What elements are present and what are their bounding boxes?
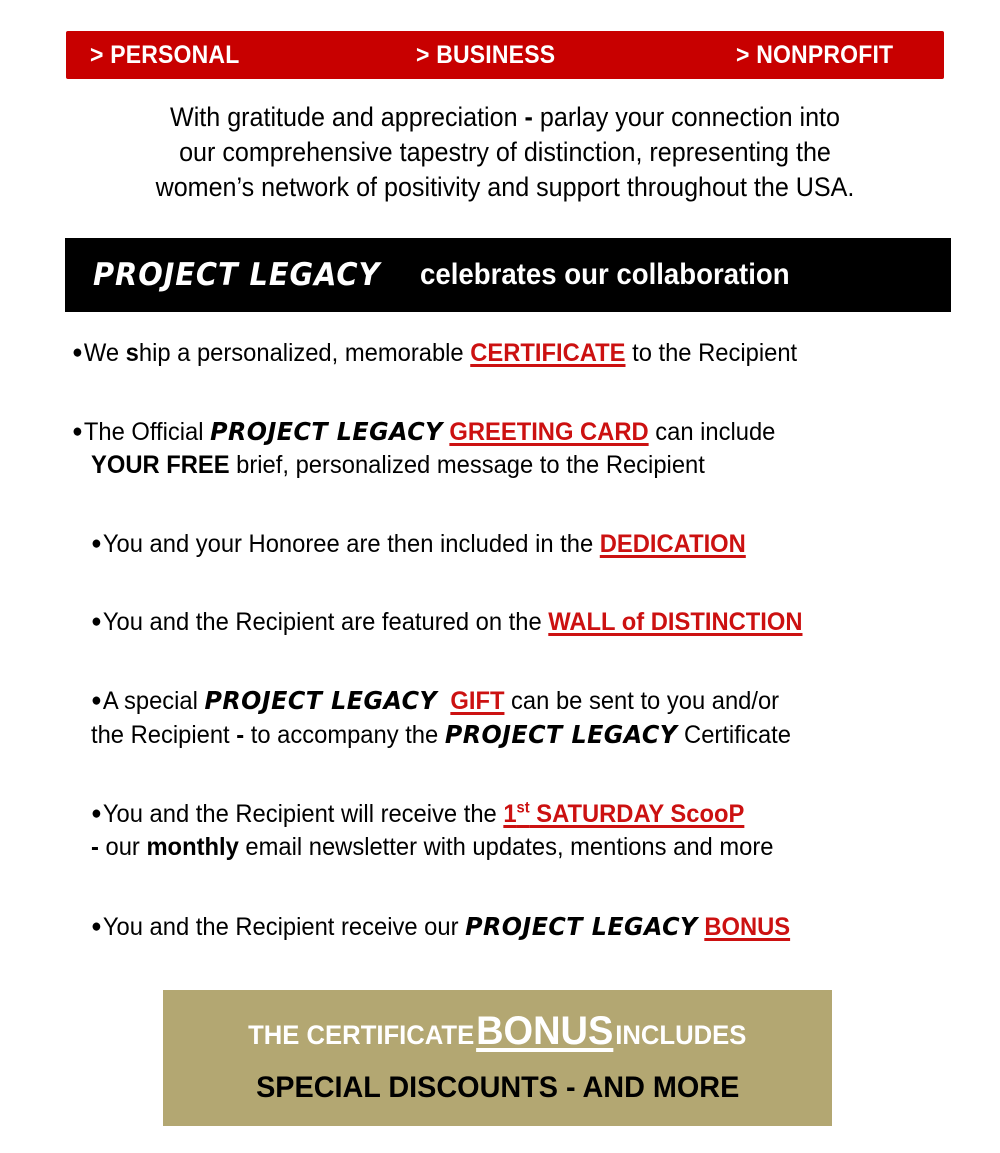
bullet-text: You and the Recipient receive our [103, 913, 465, 941]
intro-line-1: With gratitude and appreciation - parlay… [91, 100, 919, 135]
bullet-line: ●The Official PROJECT LEGACY GREETING CA… [72, 415, 908, 449]
intro-line-2: our comprehensive tapestry of distinctio… [91, 135, 919, 170]
bonus-callout-box: THE CERTIFICATE BONUS INCLUDES SPECIAL D… [163, 990, 832, 1126]
intro-line-1b: parlay your connection into [533, 102, 840, 132]
bullet-text: The Official [84, 418, 210, 446]
emphasis-scoop-text: SATURDAY ScooP [530, 800, 745, 828]
emphasis-ordinal-number: 1 [503, 800, 516, 828]
bullet-dot-icon: ● [72, 421, 83, 442]
list-item: ●You and the Recipient will receive the … [72, 797, 952, 864]
list-item: ●You and your Honoree are then included … [72, 527, 952, 561]
bullet-text: You and your Honoree are then included i… [103, 530, 600, 558]
emphasis-bonus: BONUS [704, 913, 790, 941]
bullet-dot-icon: ● [91, 611, 102, 632]
bullet-text: hip a personalized, memorable [139, 339, 470, 367]
brand-project-legacy: PROJECT LEGACY [465, 912, 698, 941]
bonus-headline: THE CERTIFICATE BONUS INCLUDES [248, 1011, 746, 1051]
bullet-line: ●We ship a personalized, memorable CERTI… [72, 336, 908, 370]
bonus-subheadline: SPECIAL DISCOUNTS - AND MORE [256, 1071, 739, 1105]
bullet-line: ●You and the Recipient receive our PROJE… [72, 910, 908, 944]
brand-project-legacy: PROJECT LEGACY [445, 720, 678, 749]
benefits-list: ●We ship a personalized, memorable CERTI… [72, 336, 952, 944]
bullet-dot-icon: ● [91, 690, 102, 711]
bullet-text: the Recipient [91, 721, 236, 749]
bullet-text: Certificate [677, 721, 791, 749]
nav-item-personal[interactable]: > PERSONAL [90, 31, 239, 79]
intro-paragraph: With gratitude and appreciation - parlay… [91, 100, 919, 205]
bullet-text: We [84, 339, 126, 367]
list-item: ●We ship a personalized, memorable CERTI… [72, 336, 952, 370]
title-banner-brand: PROJECT LEGACY [93, 257, 380, 293]
bullet-text: to accompany the [244, 721, 445, 749]
bullet-line-2: YOUR FREE brief, personalized message to… [72, 449, 908, 482]
nav-item-business[interactable]: > BUSINESS [416, 31, 555, 79]
list-item: ●A special PROJECT LEGACY GIFT can be se… [72, 684, 952, 752]
emphasis-saturday-scoop: 1st SATURDAY ScooP [503, 800, 744, 828]
list-item: ●You and the Recipient receive our PROJE… [72, 910, 952, 944]
brand-project-legacy: PROJECT LEGACY [205, 686, 438, 715]
bullet-line: ●You and your Honoree are then included … [72, 527, 908, 561]
bullet-text: You and the Recipient will receive the [103, 800, 503, 828]
emphasis-certificate: CERTIFICATE [470, 339, 625, 367]
bullet-text: A special [103, 687, 205, 715]
bullet-text-bold: s [126, 339, 139, 367]
bullet-line: ●You and the Recipient will receive the … [72, 797, 908, 831]
bullet-dot-icon: ● [72, 342, 83, 363]
bullet-text: email newsletter with updates, mentions … [239, 833, 774, 861]
emphasis-wall-of-distinction: WALL of DISTINCTION [548, 608, 802, 636]
bullet-dot-icon: ● [91, 916, 102, 937]
bullet-dot-icon: ● [91, 803, 102, 824]
emphasis-gift: GIFT [450, 687, 504, 715]
bullet-text: can be sent to you and/or [504, 687, 779, 715]
bonus-headline-suffix: INCLUDES [616, 1020, 747, 1051]
bullet-line: ●You and the Recipient are featured on t… [72, 605, 908, 639]
bullet-text: can include [649, 418, 776, 446]
bullet-text: brief, personalized message to the Recip… [230, 451, 705, 479]
bullet-line-2: the Recipient - to accompany the PROJECT… [72, 718, 908, 752]
emphasis-greeting-card: GREETING CARD [449, 418, 648, 446]
bonus-headline-bonus: BONUS [476, 1011, 613, 1051]
bullet-dot-icon: ● [91, 533, 102, 554]
bullet-text-bold: YOUR FREE [91, 451, 230, 479]
top-nav-banner: > PERSONAL > BUSINESS > NONPROFIT [66, 31, 944, 79]
emphasis-dedication: DEDICATION [600, 530, 746, 558]
nav-item-business-label: > BUSINESS [416, 41, 555, 70]
list-item: ●You and the Recipient are featured on t… [72, 605, 952, 639]
bonus-headline-prefix: THE CERTIFICATE [248, 1020, 474, 1051]
bullet-text: our [99, 833, 147, 861]
bullet-line-2: - our monthly email newsletter with upda… [72, 831, 908, 864]
nav-item-nonprofit-label: > NONPROFIT [736, 41, 893, 70]
title-banner: PROJECT LEGACY celebrates our collaborat… [65, 238, 951, 312]
nav-item-personal-label: > PERSONAL [90, 41, 239, 70]
brand-project-legacy: PROJECT LEGACY [210, 417, 443, 446]
intro-line-3: women’s network of positivity and suppor… [91, 170, 919, 205]
emphasis-ordinal-suffix: st [517, 800, 530, 817]
title-banner-tagline: celebrates our collaboration [420, 258, 790, 292]
intro-line-1-dash: - [525, 102, 533, 132]
bullet-text: to the Recipient [625, 339, 797, 367]
nav-item-nonprofit[interactable]: > NONPROFIT [736, 31, 893, 79]
bullet-text-bold: monthly [146, 833, 238, 861]
bullet-line: ●A special PROJECT LEGACY GIFT can be se… [72, 684, 908, 718]
intro-line-1a: With gratitude and appreciation [170, 102, 525, 132]
list-item: ●The Official PROJECT LEGACY GREETING CA… [72, 415, 952, 482]
bullet-text: You and the Recipient are featured on th… [103, 608, 548, 636]
